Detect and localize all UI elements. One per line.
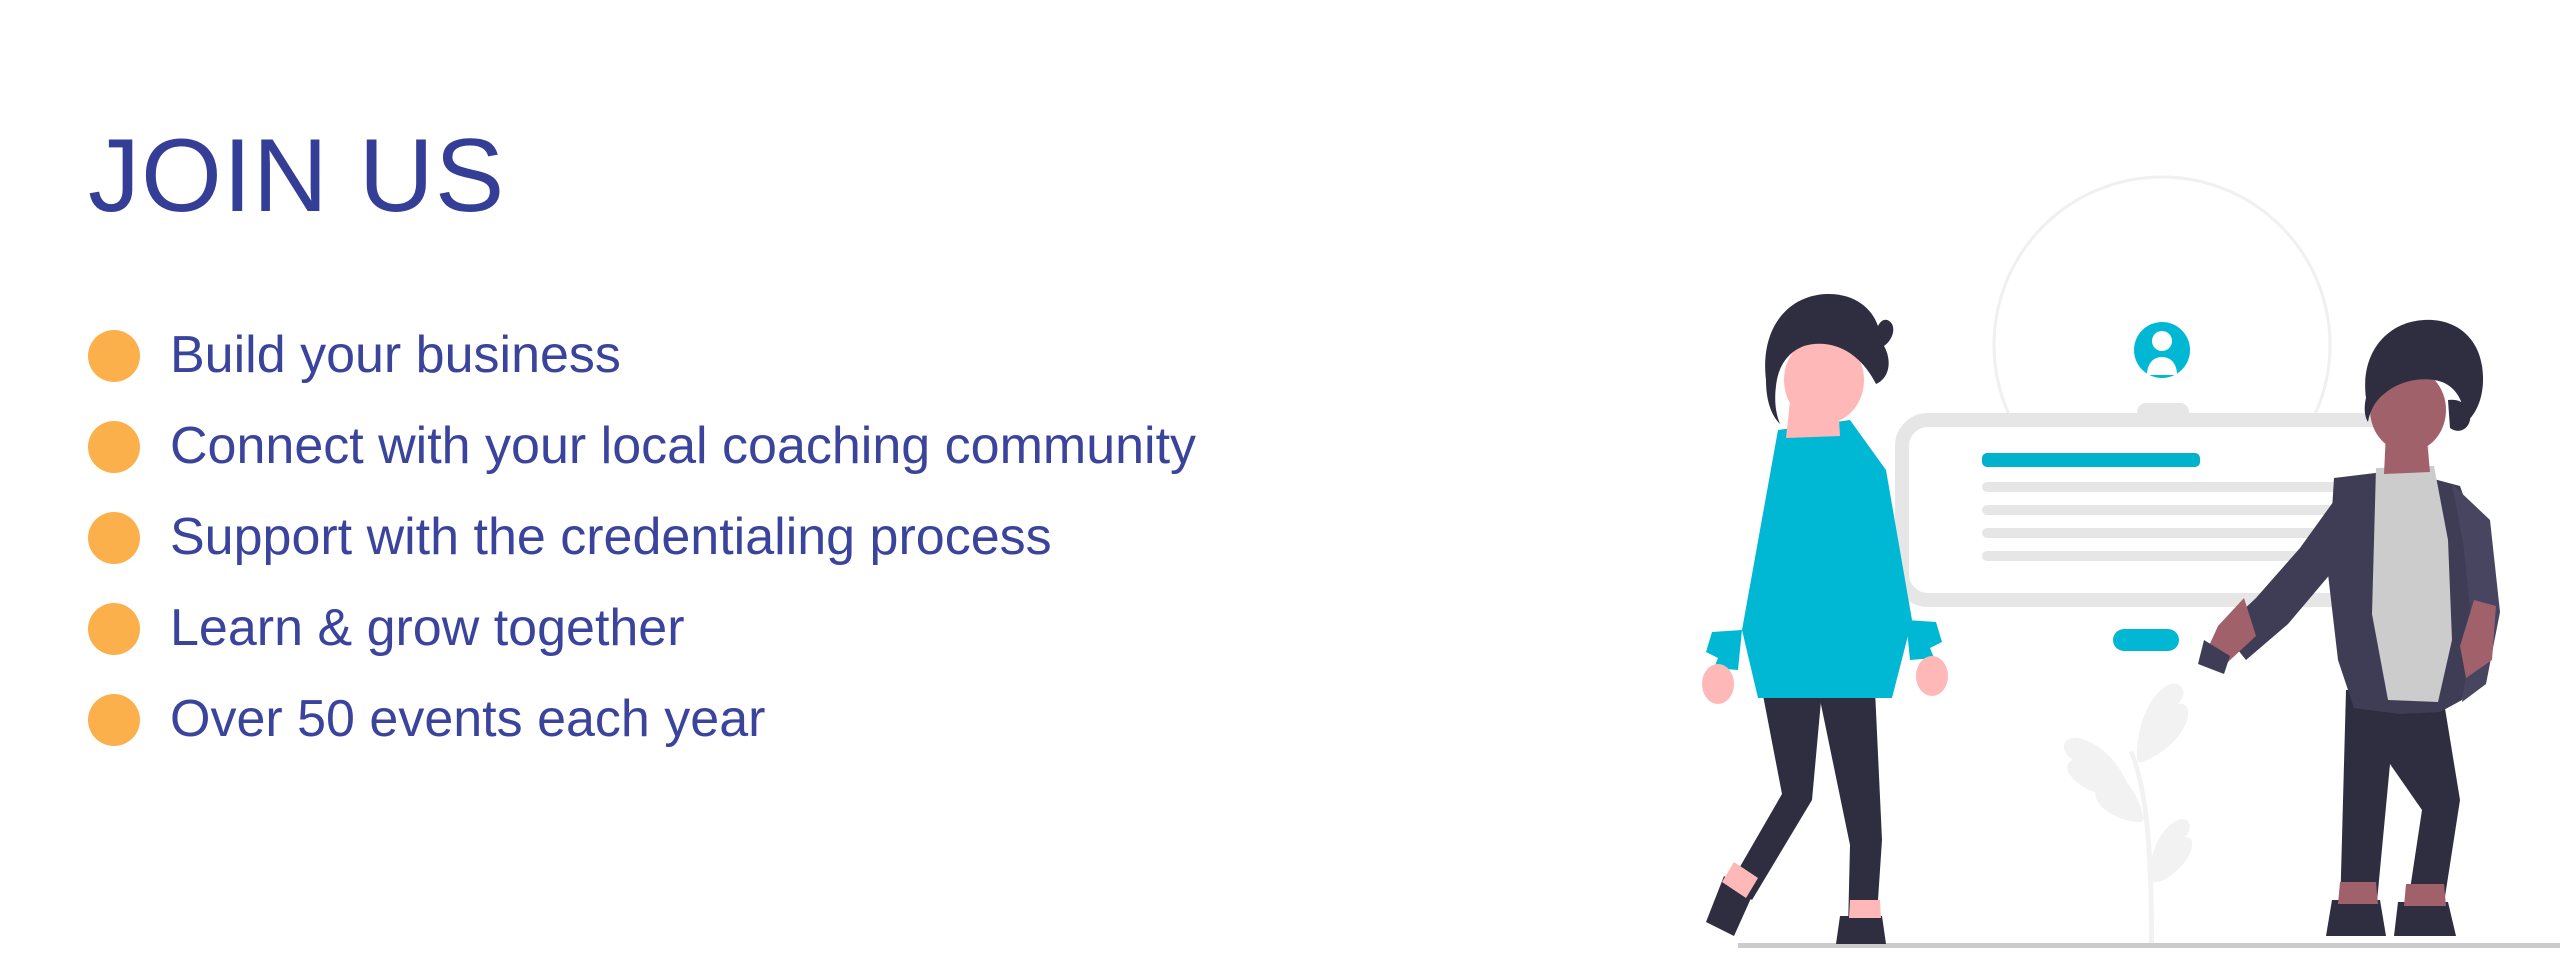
card-text-line: [1982, 551, 2342, 561]
cta-button-pill[interactable]: [2113, 629, 2179, 651]
illustration: [1700, 0, 2560, 960]
benefits-list: Build your business Connect with your lo…: [88, 310, 1196, 765]
bullet-dot-icon: [88, 330, 140, 382]
person-in-cyan-top: [1702, 294, 1948, 944]
card-title-bar: [1982, 453, 2200, 467]
decorative-plant-icon: [2064, 684, 2192, 945]
bullet-dot-icon: [88, 512, 140, 564]
bullet-dot-icon: [88, 603, 140, 655]
benefit-label: Build your business: [170, 328, 621, 383]
benefit-label: Learn & grow together: [170, 601, 685, 656]
benefit-label: Over 50 events each year: [170, 692, 765, 747]
page-title: JOIN US: [88, 124, 505, 228]
card-text-line: [1982, 528, 2342, 538]
text-content-column: JOIN US Build your business Connect with…: [0, 0, 1720, 960]
list-item: Over 50 events each year: [88, 674, 1196, 765]
benefit-label: Support with the credentialing process: [170, 510, 1052, 565]
person-avatar-icon: [2134, 322, 2190, 378]
bullet-dot-icon: [88, 421, 140, 473]
card-text-line: [1982, 482, 2342, 492]
list-item: Support with the credentialing process: [88, 492, 1196, 583]
benefit-label: Connect with your local coaching communi…: [170, 419, 1196, 474]
list-item: Connect with your local coaching communi…: [88, 401, 1196, 492]
list-item: Build your business: [88, 310, 1196, 401]
person-in-blazer: [2198, 320, 2500, 936]
card-text-line: [1982, 505, 2342, 515]
list-item: Learn & grow together: [88, 583, 1196, 674]
bullet-dot-icon: [88, 694, 140, 746]
join-us-banner: JOIN US Build your business Connect with…: [0, 0, 2560, 960]
